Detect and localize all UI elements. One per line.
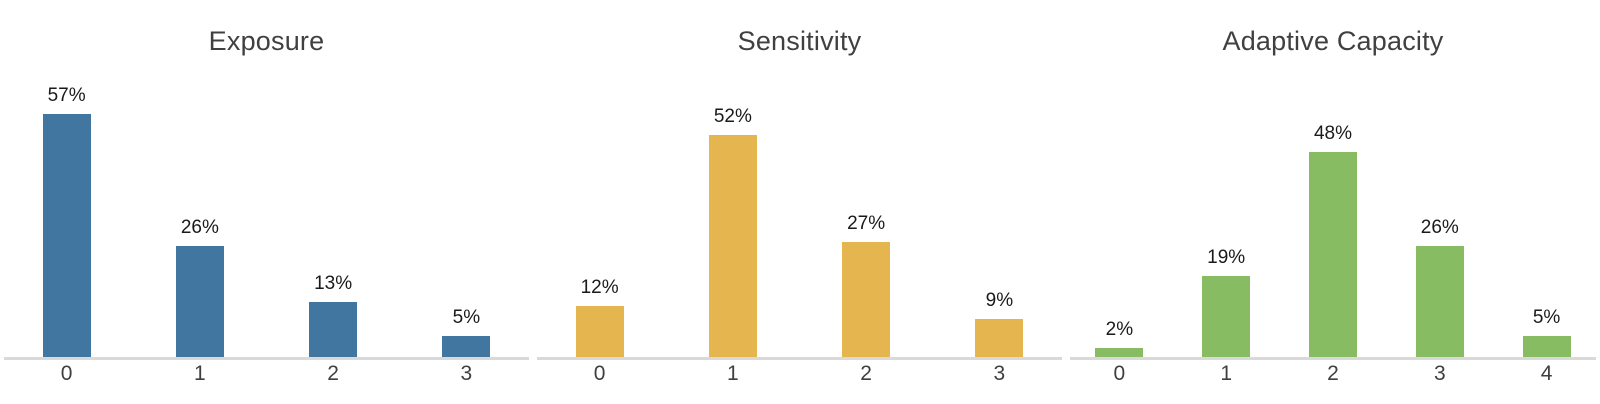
x-tick-label: 3 xyxy=(400,360,533,387)
bar[interactable] xyxy=(1523,336,1571,357)
x-tick-label: 0 xyxy=(1066,360,1173,387)
bar-value-label: 26% xyxy=(1421,218,1459,237)
bar[interactable] xyxy=(709,135,757,357)
bar-value-label: 12% xyxy=(581,278,619,297)
plot-area-exposure: 57%26%13%5% xyxy=(0,70,533,360)
chart-panel-sensitivity: Sensitivity 12%52%27%9% 0123 xyxy=(533,0,1066,404)
bar[interactable] xyxy=(176,246,224,357)
bar-value-label: 13% xyxy=(314,274,352,293)
bar-group-adaptive-capacity: 2%19%48%26%5% xyxy=(1066,70,1600,357)
bar-slot: 57% xyxy=(0,70,133,357)
x-tick-label: 3 xyxy=(1386,360,1493,387)
bar-value-label: 27% xyxy=(847,214,885,233)
bar-value-label: 48% xyxy=(1314,124,1352,143)
panel-title-exposure: Exposure xyxy=(0,26,533,57)
bar-slot: 48% xyxy=(1280,70,1387,357)
bar-value-label: 19% xyxy=(1207,248,1245,267)
x-tick-label: 1 xyxy=(666,360,799,387)
x-tick-label: 0 xyxy=(533,360,666,387)
bar-value-label: 57% xyxy=(48,86,86,105)
x-tick-label: 1 xyxy=(133,360,266,387)
bar-slot: 27% xyxy=(800,70,933,357)
bar-chart-figure: Exposure 57%26%13%5% 0123 Sensitivity 12… xyxy=(0,0,1600,404)
plot-area-sensitivity: 12%52%27%9% xyxy=(533,70,1066,360)
bar[interactable] xyxy=(842,242,890,357)
bar-value-label: 5% xyxy=(453,308,480,327)
x-tick-label: 3 xyxy=(933,360,1066,387)
bar[interactable] xyxy=(1095,348,1143,357)
bar[interactable] xyxy=(1309,152,1357,357)
bar-group-exposure: 57%26%13%5% xyxy=(0,70,533,357)
bar-slot: 12% xyxy=(533,70,666,357)
x-tick-label: 2 xyxy=(1280,360,1387,387)
bar[interactable] xyxy=(1416,246,1464,357)
bar-value-label: 52% xyxy=(714,107,752,126)
bar-slot: 52% xyxy=(666,70,799,357)
x-tick-label: 4 xyxy=(1493,360,1600,387)
bar-group-sensitivity: 12%52%27%9% xyxy=(533,70,1066,357)
bar[interactable] xyxy=(576,306,624,357)
x-tick-label: 2 xyxy=(267,360,400,387)
chart-panel-exposure: Exposure 57%26%13%5% 0123 xyxy=(0,0,533,404)
bar[interactable] xyxy=(309,302,357,357)
bar[interactable] xyxy=(442,336,490,357)
x-axis-tick-labels-exposure: 0123 xyxy=(0,360,533,400)
panel-title-adaptive-capacity: Adaptive Capacity xyxy=(1066,26,1600,57)
plot-area-adaptive-capacity: 2%19%48%26%5% xyxy=(1066,70,1600,360)
bar-value-label: 2% xyxy=(1106,320,1133,339)
bar[interactable] xyxy=(1202,276,1250,357)
bar-value-label: 9% xyxy=(986,291,1013,310)
bar[interactable] xyxy=(975,319,1023,357)
x-tick-label: 1 xyxy=(1173,360,1280,387)
bar[interactable] xyxy=(43,114,91,357)
bar-slot: 2% xyxy=(1066,70,1173,357)
bar-slot: 26% xyxy=(133,70,266,357)
bar-slot: 13% xyxy=(267,70,400,357)
x-tick-label: 0 xyxy=(0,360,133,387)
bar-slot: 5% xyxy=(1493,70,1600,357)
x-axis-tick-labels-adaptive-capacity: 01234 xyxy=(1066,360,1600,400)
bar-slot: 5% xyxy=(400,70,533,357)
panel-title-sensitivity: Sensitivity xyxy=(533,26,1066,57)
x-tick-label: 2 xyxy=(800,360,933,387)
bar-value-label: 5% xyxy=(1533,308,1560,327)
bar-slot: 9% xyxy=(933,70,1066,357)
chart-panel-adaptive-capacity: Adaptive Capacity 2%19%48%26%5% 01234 xyxy=(1066,0,1600,404)
bar-slot: 19% xyxy=(1173,70,1280,357)
x-axis-tick-labels-sensitivity: 0123 xyxy=(533,360,1066,400)
bar-slot: 26% xyxy=(1386,70,1493,357)
bar-value-label: 26% xyxy=(181,218,219,237)
